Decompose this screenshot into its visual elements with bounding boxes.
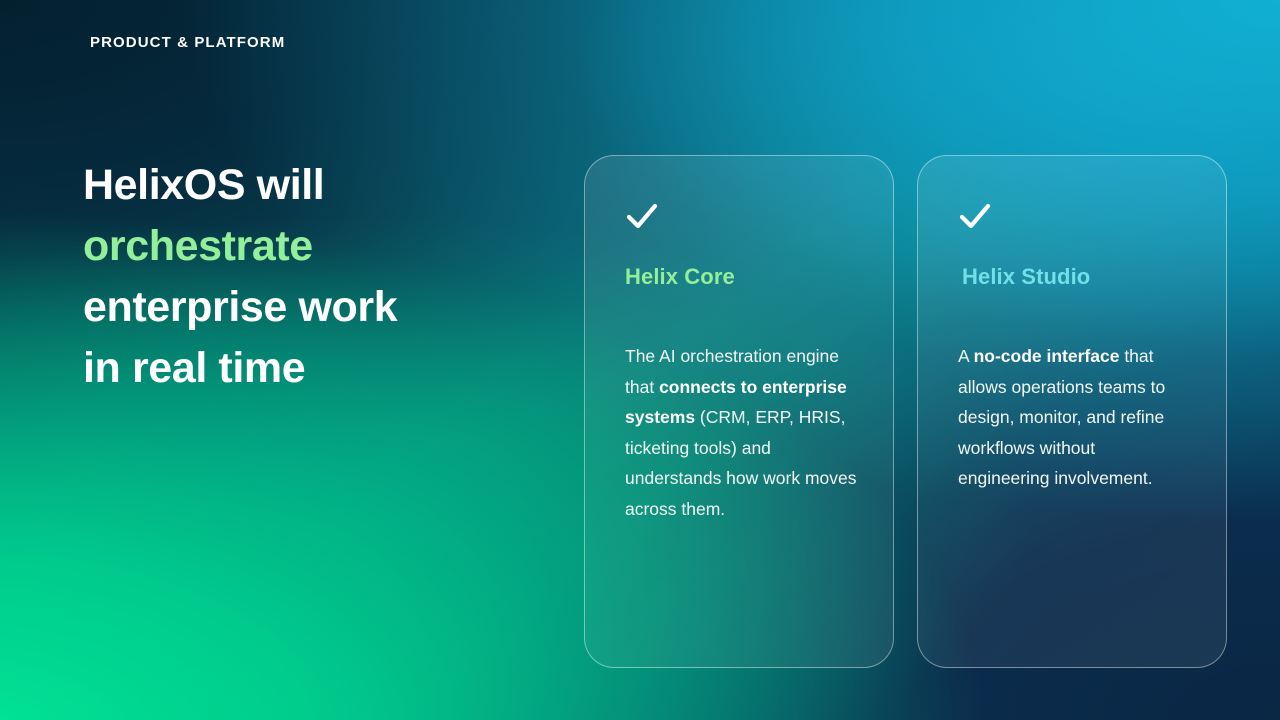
- card-body: The AI orchestration engine that connect…: [625, 341, 857, 525]
- eyebrow-label: PRODUCT & PLATFORM: [90, 34, 285, 51]
- headline-line-1: HelixOS will: [83, 161, 324, 209]
- slide-root: PRODUCT & PLATFORM HelixOS will orchestr…: [0, 0, 1280, 720]
- headline-line-3: enterprise work: [83, 283, 397, 331]
- feature-card-helix-core[interactable]: Helix Core The AI orchestration engine t…: [584, 155, 894, 668]
- check-icon: [958, 199, 992, 233]
- card-body: A no-code interface that allows operatio…: [958, 341, 1190, 494]
- headline-accent-word: orchestrate: [83, 222, 313, 270]
- page-title: HelixOS will orchestrate enterprise work…: [83, 155, 553, 399]
- card-title: Helix Studio: [962, 264, 1090, 290]
- headline-line-4: in real time: [83, 344, 305, 392]
- feature-card-helix-studio[interactable]: Helix Studio A no-code interface that al…: [917, 155, 1227, 668]
- check-icon: [625, 199, 659, 233]
- card-title: Helix Core: [625, 264, 735, 290]
